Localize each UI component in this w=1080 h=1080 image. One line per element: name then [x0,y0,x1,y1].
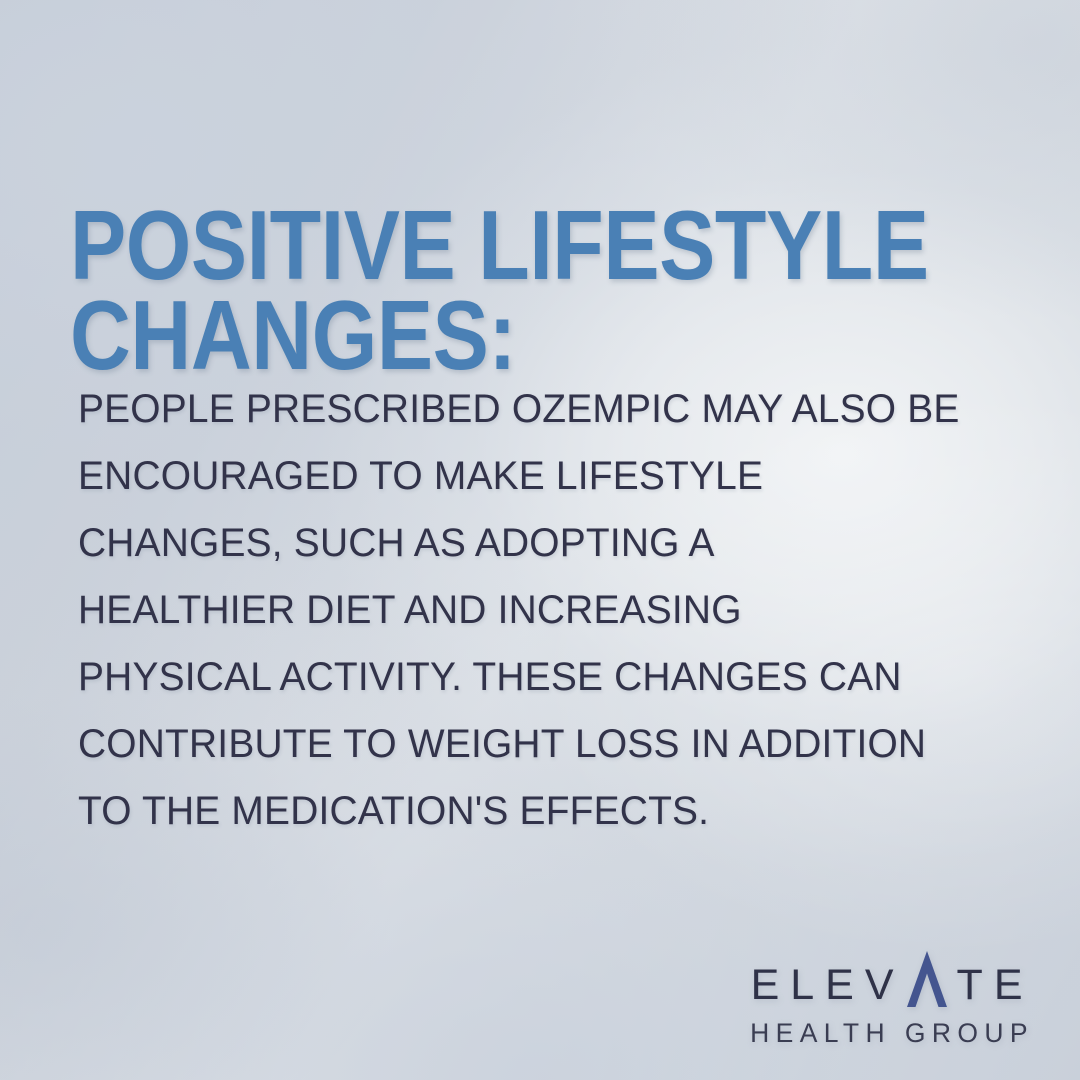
social-post-canvas: POSITIVE LIFESTYLE CHANGES: PEOPLE PRESC… [0,0,1080,1080]
headline-line-1: POSITIVE LIFESTYLE [70,200,844,290]
logo-tagline: HEALTH GROUP [750,1020,1034,1047]
logo-wordmark-suffix: TE [957,964,1034,1007]
headline-line-2: CHANGES: [70,290,844,380]
body-line-5: PHYSICAL ACTIVITY. THESE CHANGES CAN [78,644,984,711]
body-line-6: CONTRIBUTE TO WEIGHT LOSS IN ADDITION [78,711,984,778]
logo-wordmark: ELEV TE [750,959,1034,1007]
body-line-4: HEALTHIER DIET AND INCREASING [78,577,984,644]
body-paragraph: PEOPLE PRESCRIBED OZEMPIC MAY ALSO BE EN… [78,376,984,845]
mountain-peak-a-icon [906,951,948,1007]
page-title: POSITIVE LIFESTYLE CHANGES: [70,200,844,380]
body-line-2: ENCOURAGED TO MAKE LIFESTYLE [78,443,984,510]
brand-logo: ELEV TE HEALTH GROUP [750,959,1034,1047]
body-line-7: TO THE MEDICATION'S EFFECTS. [78,778,984,845]
body-line-3: CHANGES, SUCH AS ADOPTING A [78,510,984,577]
body-line-1: PEOPLE PRESCRIBED OZEMPIC MAY ALSO BE [78,376,984,443]
logo-wordmark-prefix: ELEV [751,964,905,1007]
